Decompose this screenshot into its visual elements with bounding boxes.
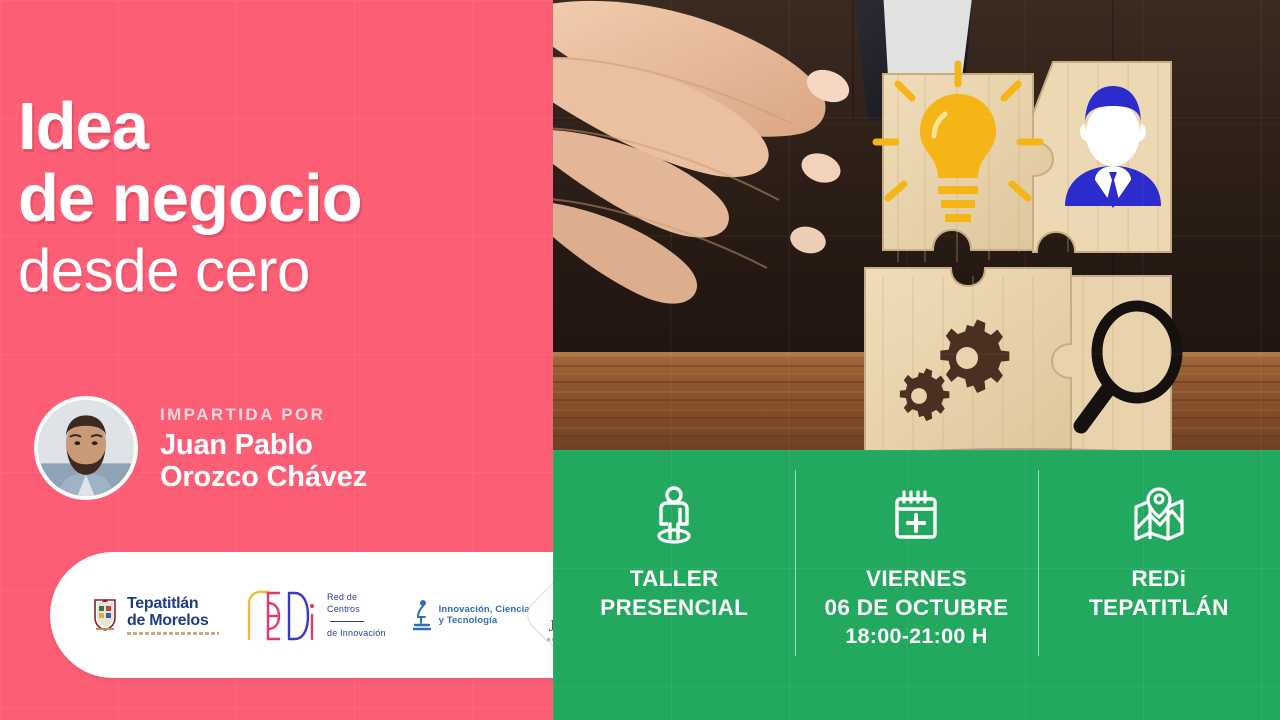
headline-line-1: Idea bbox=[18, 92, 538, 162]
info-line: TEPATITLÁN bbox=[1089, 593, 1229, 622]
redi-desc-line-1: Red de bbox=[327, 591, 386, 603]
tepatitlan-text: Tepatitlán de Morelos bbox=[127, 596, 219, 635]
coat-of-arms-icon bbox=[92, 598, 118, 632]
hero-photo bbox=[553, 0, 1280, 452]
calendar-plus-icon bbox=[890, 484, 942, 546]
presenter-name-line-2: Orozco Chávez bbox=[160, 461, 367, 493]
headline-block: Idea de negocio desde cero bbox=[18, 92, 538, 306]
person-standing-icon bbox=[649, 484, 699, 546]
headline-line-2: de negocio bbox=[18, 162, 538, 236]
redi-logo-icon bbox=[245, 589, 317, 641]
logo-bar: Tepatitlán de Morelos Red de bbox=[50, 552, 553, 678]
pink-panel: Idea de negocio desde cero bbox=[0, 0, 553, 720]
green-info-panel: TALLER PRESENCIAL VIERNES 06 DE OCTUBRE … bbox=[553, 450, 1280, 720]
ict-text: Innovación, Ciencia y Tecnología bbox=[439, 604, 530, 626]
redi-desc-line-2-wrap: Centros bbox=[327, 603, 386, 627]
redi-desc-line-2: Centros bbox=[327, 603, 386, 615]
headline-line-3: desde cero bbox=[18, 236, 538, 306]
tepatitlan-tagline-rule bbox=[127, 632, 219, 635]
info-line: VIERNES bbox=[866, 564, 967, 593]
redi-rule bbox=[330, 621, 364, 622]
info-column-date: VIERNES 06 DE OCTUBRE 18:00-21:00 H bbox=[795, 450, 1037, 720]
presenter-text: IMPARTIDA POR Juan Pablo Orozco Chávez bbox=[160, 403, 367, 493]
tepatitlan-line-2: de Morelos bbox=[127, 613, 219, 629]
logo-innovacion-ciencia-tecnologia: Innovación, Ciencia y Tecnología bbox=[412, 599, 530, 631]
info-line: 06 DE OCTUBRE bbox=[825, 593, 1009, 622]
avatar bbox=[34, 396, 138, 500]
presenter-name-line-1: Juan Pablo bbox=[160, 429, 367, 461]
info-line: 18:00-21:00 H bbox=[845, 622, 988, 651]
logo-tepatitlan: Tepatitlán de Morelos bbox=[92, 596, 219, 635]
info-line: TALLER bbox=[630, 564, 719, 593]
presenter-label: IMPARTIDA POR bbox=[160, 405, 367, 425]
redi-desc-line-3: de Innovación bbox=[327, 627, 386, 639]
logo-redi: Red de Centros de Innovación bbox=[245, 589, 386, 641]
ict-line-1: Innovación, Ciencia bbox=[439, 604, 530, 615]
ict-line-2: y Tecnología bbox=[439, 615, 530, 626]
event-flyer: Idea de negocio desde cero bbox=[0, 0, 1280, 720]
info-line: REDi bbox=[1131, 564, 1186, 593]
logo-jalisco: Jalisco bbox=[530, 572, 553, 658]
map-pin-icon bbox=[1130, 484, 1188, 546]
info-column-venue: REDi TEPATITLÁN bbox=[1038, 450, 1280, 720]
tepatitlan-line-1: Tepatitlán bbox=[127, 596, 219, 612]
redi-description: Red de Centros de Innovación bbox=[327, 591, 386, 639]
microscope-icon bbox=[412, 599, 432, 631]
presenter-block: IMPARTIDA POR Juan Pablo Orozco Chávez bbox=[34, 396, 367, 500]
info-column-modality: TALLER PRESENCIAL bbox=[553, 450, 795, 720]
info-line: PRESENCIAL bbox=[600, 593, 748, 622]
